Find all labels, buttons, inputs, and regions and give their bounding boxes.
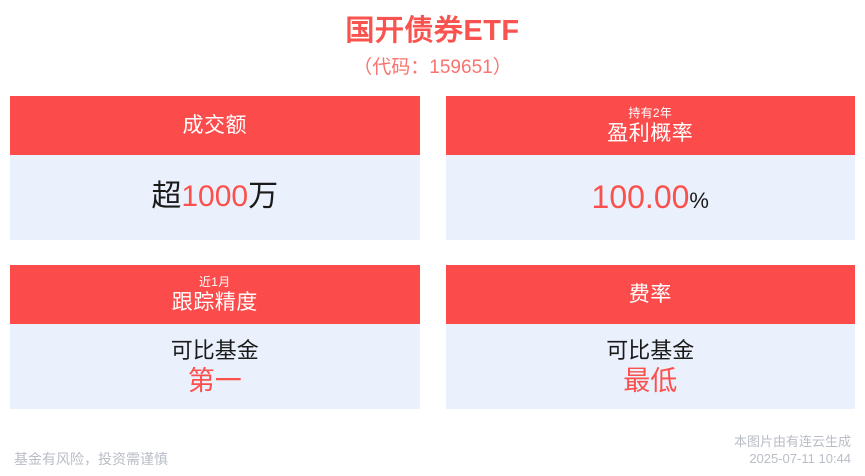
metric-card-header: 费率 xyxy=(446,265,856,324)
metric-card-row-2: 近1月 跟踪精度 可比基金 第一 费率 可比基金 最低 xyxy=(10,265,855,409)
metric-card-title: 盈利概率 xyxy=(607,121,693,146)
metric-card-row-1: 成交额 超1000万 持有2年 盈利概率 100.00% xyxy=(10,96,855,240)
poster-footer: 基金有风险，投资需谨慎 本图片由有连云生成 2025-07-11 10:44 xyxy=(0,426,865,476)
metric-card-tracking-accuracy: 近1月 跟踪精度 可比基金 第一 xyxy=(10,265,420,409)
generation-source: 本图片由有连云生成 xyxy=(734,433,851,451)
metric-card-header: 成交额 xyxy=(10,96,420,155)
metric-card-header: 近1月 跟踪精度 xyxy=(10,265,420,324)
poster-root: 国开债券ETF （代码：159651） 成交额 超1000万 持有2年 盈利概率… xyxy=(0,0,865,476)
metric-value-highlight: 最低 xyxy=(623,365,677,397)
metric-card-title: 成交额 xyxy=(183,113,248,138)
metric-card-body: 可比基金 最低 xyxy=(446,324,856,409)
generation-credit: 本图片由有连云生成 2025-07-11 10:44 xyxy=(734,433,851,468)
metric-value-subtext: 可比基金 xyxy=(606,338,694,364)
metric-value: 100.00% xyxy=(592,179,709,216)
risk-disclaimer: 基金有风险，投资需谨慎 xyxy=(14,450,168,468)
metric-card-title: 跟踪精度 xyxy=(172,290,258,315)
metric-value-suffix: % xyxy=(689,188,709,213)
page-title: 国开债券ETF xyxy=(0,13,865,49)
metric-card-profit-probability: 持有2年 盈利概率 100.00% xyxy=(446,96,856,240)
metric-card-eyebrow: 近1月 xyxy=(199,276,231,290)
metric-value-suffix: 万 xyxy=(248,180,278,213)
metric-card-body: 超1000万 xyxy=(10,155,420,240)
generation-timestamp: 2025-07-11 10:44 xyxy=(734,450,851,468)
metric-value-subtext: 可比基金 xyxy=(171,338,259,364)
metric-card-body: 100.00% xyxy=(446,155,856,240)
metric-card-title: 费率 xyxy=(629,282,672,307)
metric-value: 超1000万 xyxy=(151,180,278,215)
metric-value-highlight: 第一 xyxy=(188,365,242,397)
poster-header: 国开债券ETF （代码：159651） xyxy=(0,0,865,81)
metric-card-eyebrow: 持有2年 xyxy=(628,107,672,121)
metric-card-header: 持有2年 盈利概率 xyxy=(446,96,856,155)
metric-value-highlight: 100.00 xyxy=(592,179,690,215)
metric-card-fee-rate: 费率 可比基金 最低 xyxy=(446,265,856,409)
metric-value-prefix: 超 xyxy=(151,180,181,213)
metric-card-turnover: 成交额 超1000万 xyxy=(10,96,420,240)
fund-code-subtitle: （代码：159651） xyxy=(0,56,865,81)
metric-value-highlight: 1000 xyxy=(181,180,248,213)
metric-card-body: 可比基金 第一 xyxy=(10,324,420,409)
metric-card-grid: 成交额 超1000万 持有2年 盈利概率 100.00% 近1月 xyxy=(0,96,865,409)
